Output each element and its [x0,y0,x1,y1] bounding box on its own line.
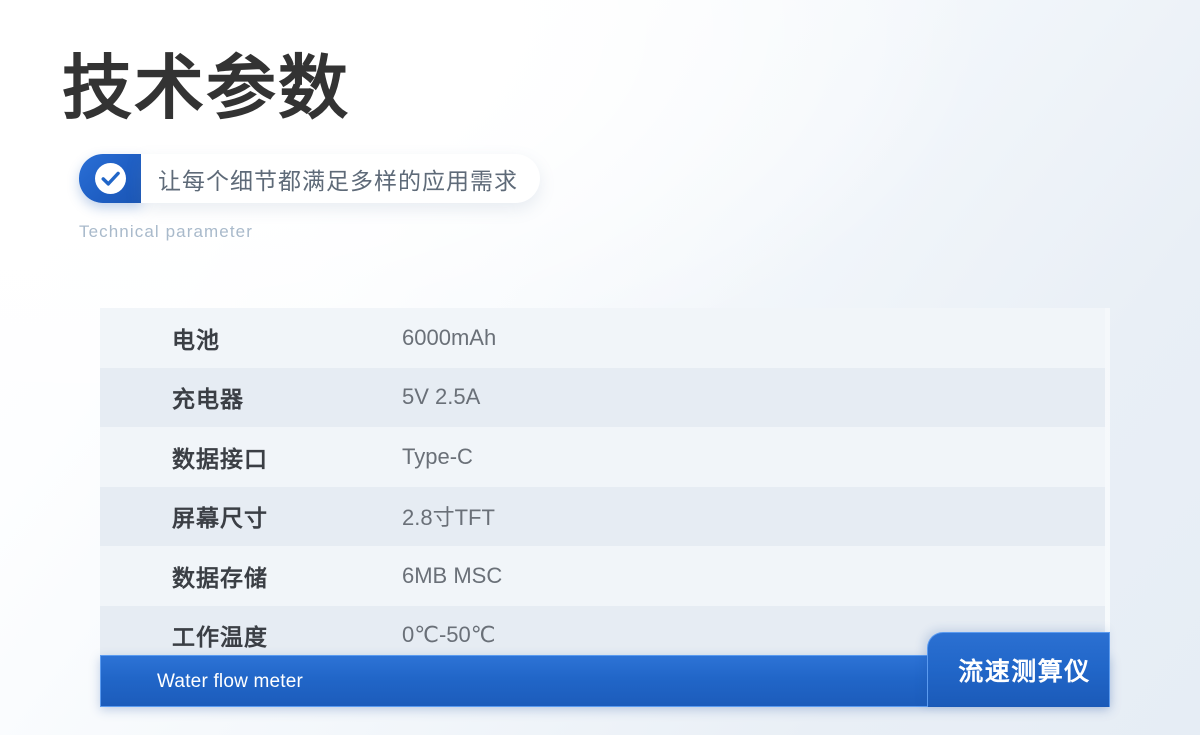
eyebrow-text: Technical parameter [79,222,253,242]
table-row: 电池 6000mAh [100,308,1105,368]
spec-table: 电池 6000mAh 充电器 5V 2.5A 数据接口 Type-C 屏幕尺寸 … [100,308,1110,678]
footer: Water flow meter 流速测算仪 [100,655,1110,707]
table-row: 充电器 5V 2.5A [100,368,1105,428]
spec-key: 充电器 [100,380,330,414]
spec-key: 数据接口 [100,440,330,474]
slide-canvas: 技术参数 让每个细节都满足多样的应用需求 Technical parameter… [0,0,1200,735]
subtitle-text: 让每个细节都满足多样的应用需求 [141,162,518,196]
spec-value: Type-C [330,444,473,470]
spec-value: 6000mAh [330,325,496,351]
page-title: 技术参数 [62,48,350,128]
spec-key: 屏幕尺寸 [100,499,330,533]
table-row: 数据接口 Type-C [100,427,1105,487]
subtitle-pill: 让每个细节都满足多样的应用需求 [141,154,540,203]
subtitle-banner: 让每个细节都满足多样的应用需求 [79,154,540,203]
footer-product-tab: 流速测算仪 [927,632,1110,707]
spec-value: 5V 2.5A [330,384,480,410]
spec-key: 工作温度 [100,618,330,652]
spec-value: 0℃-50℃ [330,622,495,648]
check-circle-icon [79,154,141,203]
spec-value: 2.8寸TFT [330,500,495,532]
table-row: 屏幕尺寸 2.8寸TFT [100,487,1105,547]
spec-value: 6MB MSC [330,563,502,589]
footer-chinese-label: 流速测算仪 [946,652,1091,688]
table-row: 数据存储 6MB MSC [100,546,1105,606]
spec-key: 电池 [100,321,330,355]
footer-english-label: Water flow meter [157,656,303,708]
spec-key: 数据存储 [100,559,330,593]
